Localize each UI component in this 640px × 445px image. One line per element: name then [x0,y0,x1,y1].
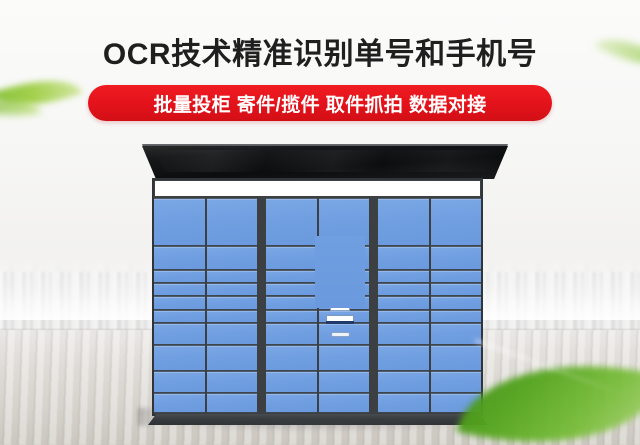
locker-door[interactable] [378,270,429,283]
locker-row [154,270,257,283]
locker-row [154,323,257,345]
locker-row [154,296,257,310]
locker-door[interactable] [266,246,317,270]
locker-row [378,393,481,413]
locker-door[interactable] [431,246,482,270]
poster-canvas: OCR技术精准识别单号和手机号 批量投柜 寄件/揽件 取件抓拍 数据对接 [0,0,640,445]
locker-door[interactable] [154,323,205,345]
bay-right [378,198,481,413]
locker-row [154,310,257,323]
locker-door[interactable] [378,371,429,393]
locker-door[interactable] [154,296,205,310]
locker-door[interactable] [378,246,429,270]
locker-door[interactable] [207,270,258,283]
locker-door[interactable] [319,345,370,371]
locker-door[interactable] [207,393,258,413]
smart-parcel-locker [0,0,640,445]
locker-row [378,323,481,345]
locker-door[interactable] [378,198,429,246]
locker-door[interactable] [207,323,258,345]
locker-door[interactable] [431,345,482,371]
locker-door[interactable] [431,283,482,296]
locker-row [378,198,481,246]
locker-row [378,283,481,296]
locker-door[interactable] [154,283,205,296]
locker-door[interactable] [378,310,429,323]
locker-door[interactable] [266,283,317,296]
locker-row [154,371,257,393]
locker-door[interactable] [207,198,258,246]
locker-door[interactable] [431,371,482,393]
locker-row [378,296,481,310]
locker-row [266,393,369,413]
locker-row [266,345,369,371]
locker-door[interactable] [378,323,429,345]
locker-door[interactable] [154,310,205,323]
locker-door[interactable] [207,310,258,323]
locker-row [154,393,257,413]
kiosk-logo-badge [331,332,350,337]
locker-door[interactable] [154,393,205,413]
locker-door[interactable] [266,323,317,345]
locker-door[interactable] [431,270,482,283]
locker-door[interactable] [154,345,205,371]
locker-row [378,345,481,371]
locker-door[interactable] [378,283,429,296]
locker-door[interactable] [154,198,205,246]
locker-door[interactable] [266,296,317,310]
locker-row [378,246,481,270]
locker-header-strip [155,181,480,196]
locker-door[interactable] [266,345,317,371]
locker-door[interactable] [266,371,317,393]
locker-row [154,345,257,371]
kiosk-terminal[interactable] [315,236,365,308]
locker-door[interactable] [266,310,317,323]
bay-separator [372,198,375,413]
locker-door[interactable] [207,246,258,270]
bay-left [154,198,257,413]
locker-door[interactable] [431,323,482,345]
locker-row [378,371,481,393]
locker-door[interactable] [266,198,317,246]
locker-ground-shadow [138,422,500,432]
canopy-sheen [152,150,500,172]
locker-door[interactable] [378,296,429,310]
locker-door[interactable] [207,345,258,371]
locker-door[interactable] [431,310,482,323]
printer-tray-shadow [326,321,354,324]
locker-door[interactable] [319,393,370,413]
locker-row [378,310,481,323]
locker-door[interactable] [431,198,482,246]
locker-door[interactable] [431,393,482,413]
locker-door[interactable] [207,283,258,296]
locker-door[interactable] [378,345,429,371]
locker-door[interactable] [207,371,258,393]
locker-row [266,323,369,345]
locker-door[interactable] [378,393,429,413]
locker-door[interactable] [154,270,205,283]
locker-door[interactable] [431,296,482,310]
locker-door[interactable] [319,371,370,393]
locker-row [154,283,257,296]
locker-door[interactable] [154,246,205,270]
locker-door[interactable] [266,270,317,283]
locker-door[interactable] [266,393,317,413]
bay-separator [260,198,263,413]
locker-door[interactable] [154,371,205,393]
locker-row [266,371,369,393]
locker-row [154,198,257,246]
locker-row [378,270,481,283]
locker-door[interactable] [207,296,258,310]
locker-row [154,246,257,270]
